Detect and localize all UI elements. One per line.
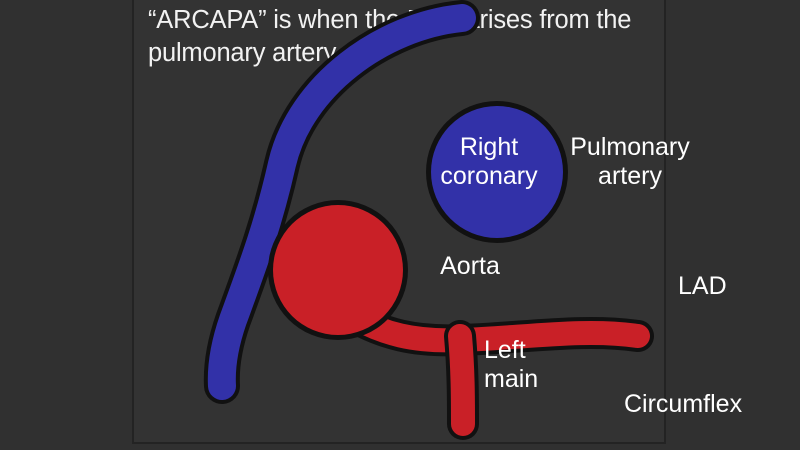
circumflex-vessel: [460, 336, 463, 424]
aorta-circle: [273, 205, 403, 335]
pulmonary-artery-circle: [431, 106, 563, 238]
label-lad: LAD: [678, 272, 762, 301]
arcapa-diagram: Right coronary Pulmonary artery Aorta Le…: [132, 0, 666, 444]
slide-canvas: “ARCAPA” is when the RCA arises from the…: [0, 0, 800, 450]
diagram-svg: [132, 0, 666, 444]
